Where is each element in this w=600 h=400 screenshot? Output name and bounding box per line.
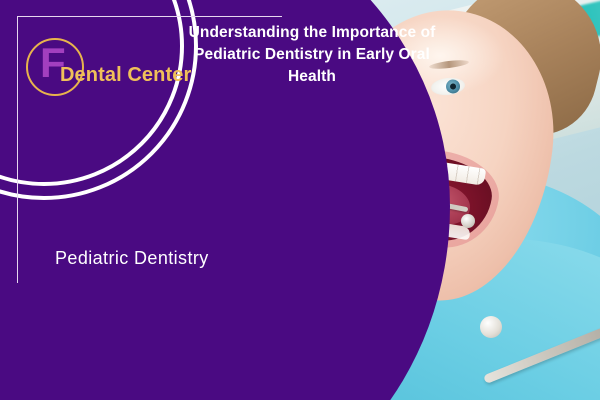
subtitle-label: Pediatric Dentistry: [55, 248, 209, 269]
logo-wordmark: Dental Center: [60, 64, 191, 87]
brand-logo[interactable]: F Dental Center: [26, 38, 196, 96]
photo-dental-probe-head: [480, 316, 502, 338]
photo-dental-mirror-head: [461, 214, 475, 228]
page-title: Understanding the Importance of Pediatri…: [176, 22, 448, 88]
dental-banner: F Dental Center Understanding the Import…: [0, 0, 600, 400]
